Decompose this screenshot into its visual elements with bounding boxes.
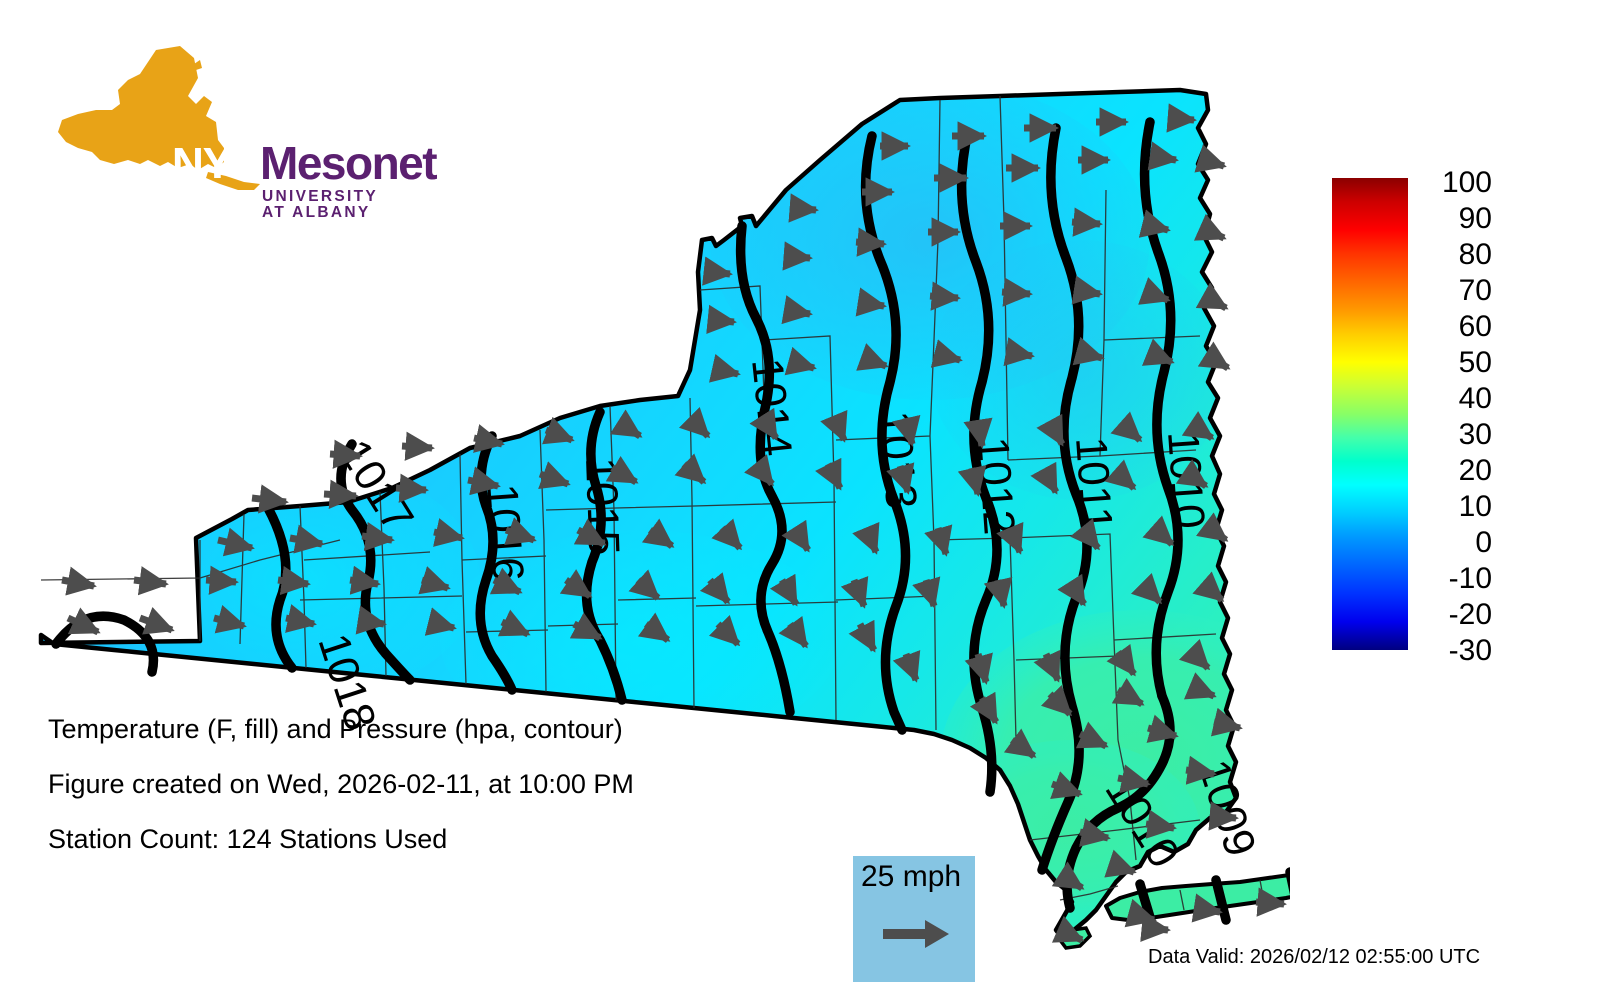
- colorbar-tick-60: 60: [1459, 312, 1492, 342]
- colorbar-tick-neg20: -20: [1449, 600, 1492, 630]
- colorbar-tick-10: 10: [1459, 492, 1492, 522]
- contour-label-1010: 1010: [1158, 429, 1214, 530]
- colorbar-tick-40: 40: [1459, 384, 1492, 414]
- colorbar-tick-50: 50: [1459, 348, 1492, 378]
- caption-station-count: Station Count: 124 Stations Used: [48, 826, 808, 853]
- colorbar-tick-70: 70: [1459, 276, 1492, 306]
- caption-variables: Temperature (F, fill) and Pressure (hpa,…: [48, 716, 808, 743]
- figure-canvas: NYS Mesonet UNIVERSITY AT ALBANY: [0, 0, 1600, 1000]
- colorbar-tick-100: 100: [1442, 168, 1492, 198]
- wind-arrow-icon: [883, 918, 951, 950]
- temperature-colorbar: [1332, 178, 1408, 650]
- colorbar-gradient: [1332, 178, 1408, 650]
- contour-label-1016: 1016: [477, 482, 533, 583]
- wind-legend-label: 25 mph: [861, 862, 961, 892]
- colorbar-tick-80: 80: [1459, 240, 1492, 270]
- caption-created-at: Figure created on Wed, 2026-02-11, at 10…: [48, 771, 808, 798]
- colorbar-tick-neg30: -30: [1449, 636, 1492, 666]
- contour-label-1013: 1013: [870, 409, 926, 510]
- colorbar-tick-90: 90: [1459, 204, 1492, 234]
- contour-label-1014: 1014: [742, 356, 801, 458]
- contour-label-1011: 1011: [1066, 435, 1121, 533]
- colorbar-tick-30: 30: [1459, 420, 1492, 450]
- colorbar-tick-0: 0: [1475, 528, 1492, 558]
- figure-caption: Temperature (F, fill) and Pressure (hpa,…: [48, 716, 808, 881]
- wind-speed-legend: 25 mph: [853, 856, 975, 982]
- data-valid-timestamp: Data Valid: 2026/02/12 02:55:00 UTC: [1148, 946, 1480, 969]
- colorbar-tick-labels: 100 90 80 70 60 50 40 30 20 10 0 -10 -20…: [1416, 162, 1492, 674]
- colorbar-tick-neg10: -10: [1449, 564, 1492, 594]
- colorbar-tick-20: 20: [1459, 456, 1492, 486]
